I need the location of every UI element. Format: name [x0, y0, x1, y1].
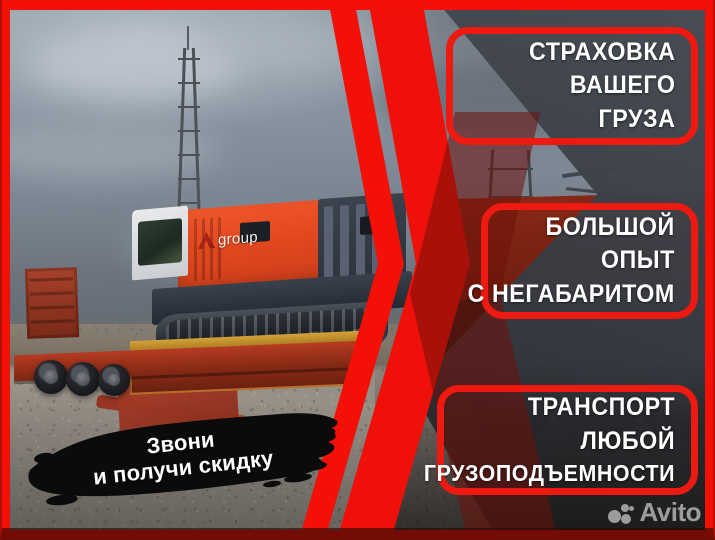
feature-box-capacity[interactable]: ТРАНСПОРТ ЛЮБОЙ ГРУЗОПОДЪЕМНОСТИ	[437, 385, 698, 495]
avito-dots-icon	[608, 502, 634, 524]
feature-line: ВАШЕГО	[529, 69, 675, 103]
feature-line: С НЕГАБАРИТОМ	[468, 278, 675, 312]
feature-line: ГРУЗОПОДЪЕМНОСТИ	[424, 458, 675, 489]
cta-brush-stroke[interactable]: Звони и получи скидку	[22, 406, 342, 506]
feature-line: ТРАНСПОРТ	[424, 391, 675, 425]
feature-box-experience[interactable]: БОЛЬШОЙ ОПЫТ С НЕГАБАРИТОМ	[481, 203, 698, 319]
advertisement-banner: group	[0, 0, 715, 540]
feature-line: БОЛЬШОЙ	[468, 211, 675, 245]
feature-line: ЛЮБОЙ	[424, 425, 675, 459]
feature-box-insurance[interactable]: СТРАХОВКА ВАШЕГО ГРУЗА	[446, 27, 698, 145]
avito-watermark: Avito	[608, 497, 701, 528]
feature-line: ГРУЗА	[529, 103, 675, 137]
feature-line: ОПЫТ	[468, 244, 675, 278]
feature-line: СТРАХОВКА	[529, 36, 675, 70]
avito-wordmark: Avito	[639, 497, 701, 528]
